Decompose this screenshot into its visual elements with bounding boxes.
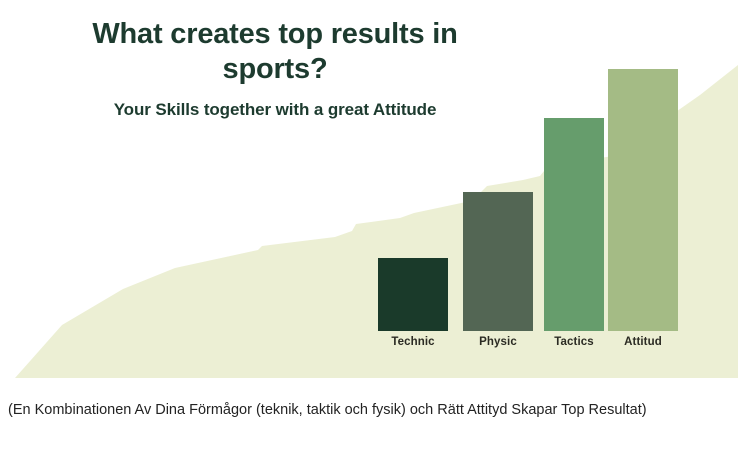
caption-text: (En Kombinationen Av Dina Förmågor (tekn… — [8, 398, 724, 423]
bar-label-tactics: Tactics — [540, 336, 608, 348]
bar-attitud[interactable] — [608, 69, 678, 331]
bar-physic[interactable] — [463, 192, 533, 331]
page-title: What creates top results in sports? — [40, 17, 510, 88]
bar-tactics[interactable] — [544, 118, 604, 331]
bar-technic[interactable] — [378, 258, 448, 331]
bar-label-physic: Physic — [463, 336, 533, 348]
slide-canvas: Technic Physic Tactics Attitud What crea… — [0, 0, 738, 452]
page-subtitle: Your Skills together with a great Attitu… — [40, 100, 510, 120]
bar-label-technic: Technic — [378, 336, 448, 348]
bar-label-attitud: Attitud — [608, 336, 678, 348]
